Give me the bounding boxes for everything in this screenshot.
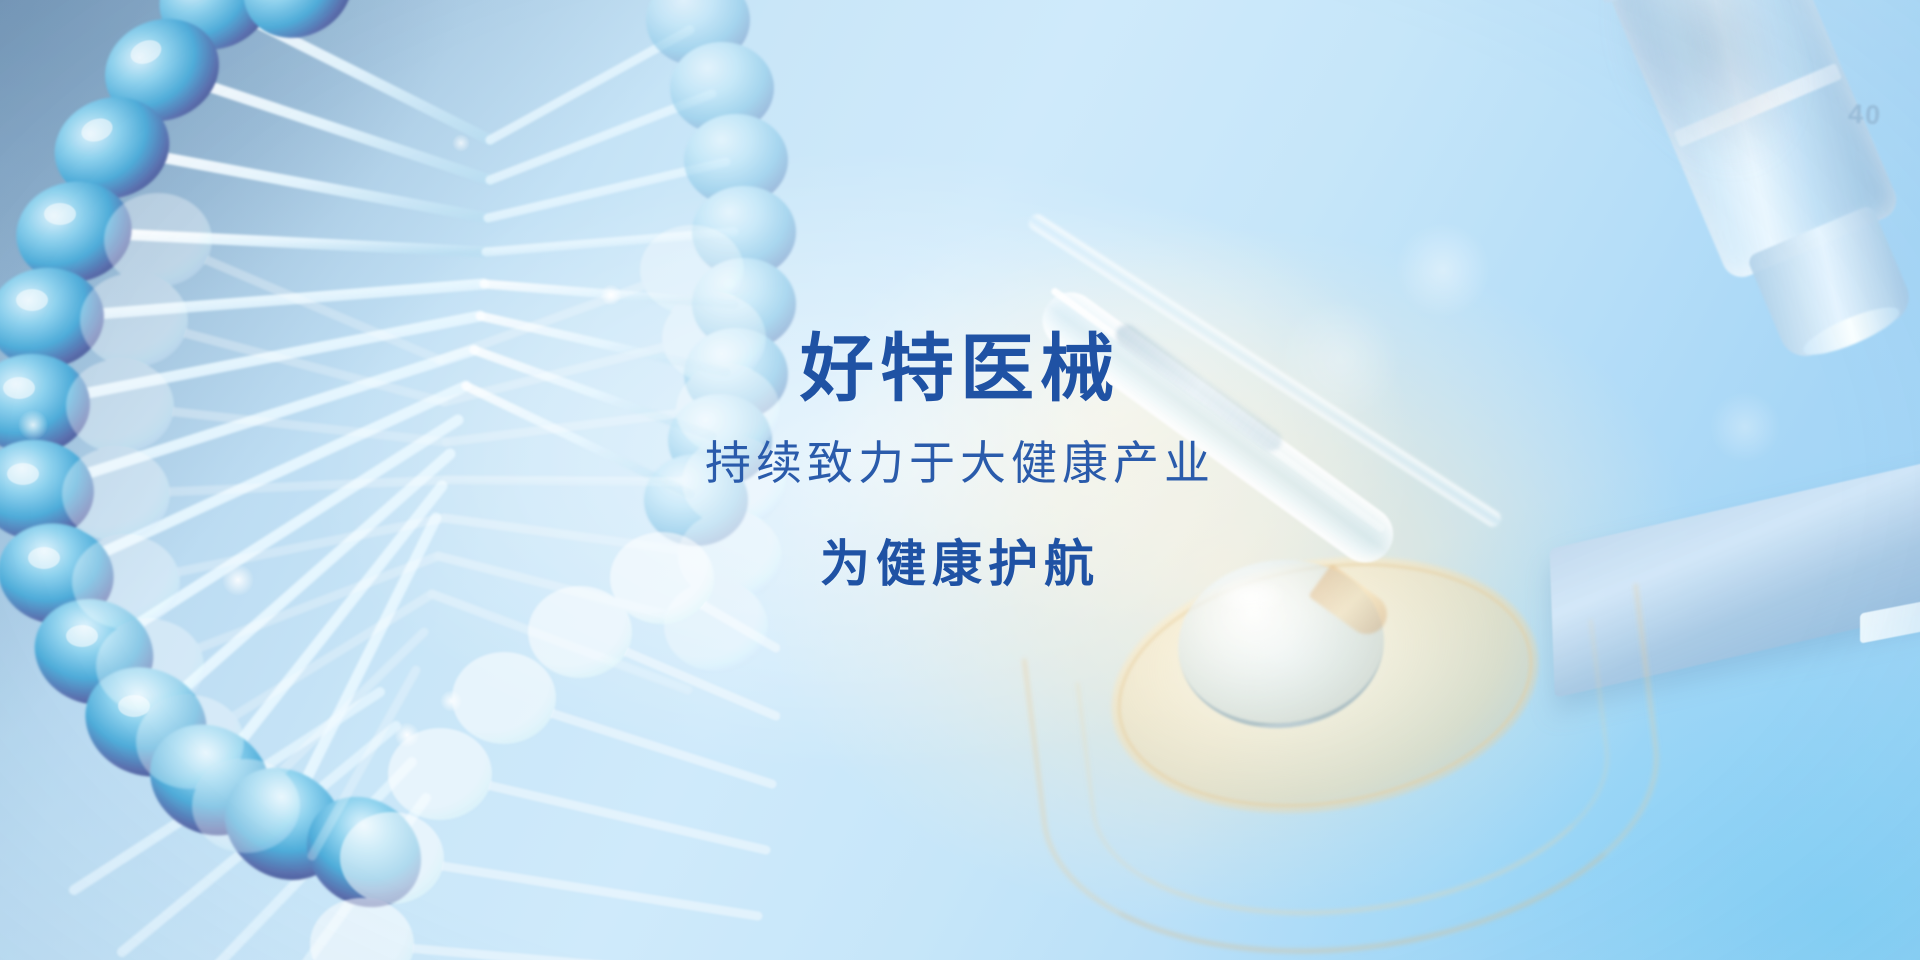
page-title: 好特医械 — [0, 330, 1920, 408]
banner-copy: 好特医械 持续致力于大健康产业 为健康护航 — [0, 330, 1920, 592]
banner-tagline: 持续致力于大健康产业 — [0, 438, 1920, 489]
hero-banner: 40 — [0, 0, 1920, 960]
banner-slogan: 为健康护航 — [0, 537, 1920, 592]
